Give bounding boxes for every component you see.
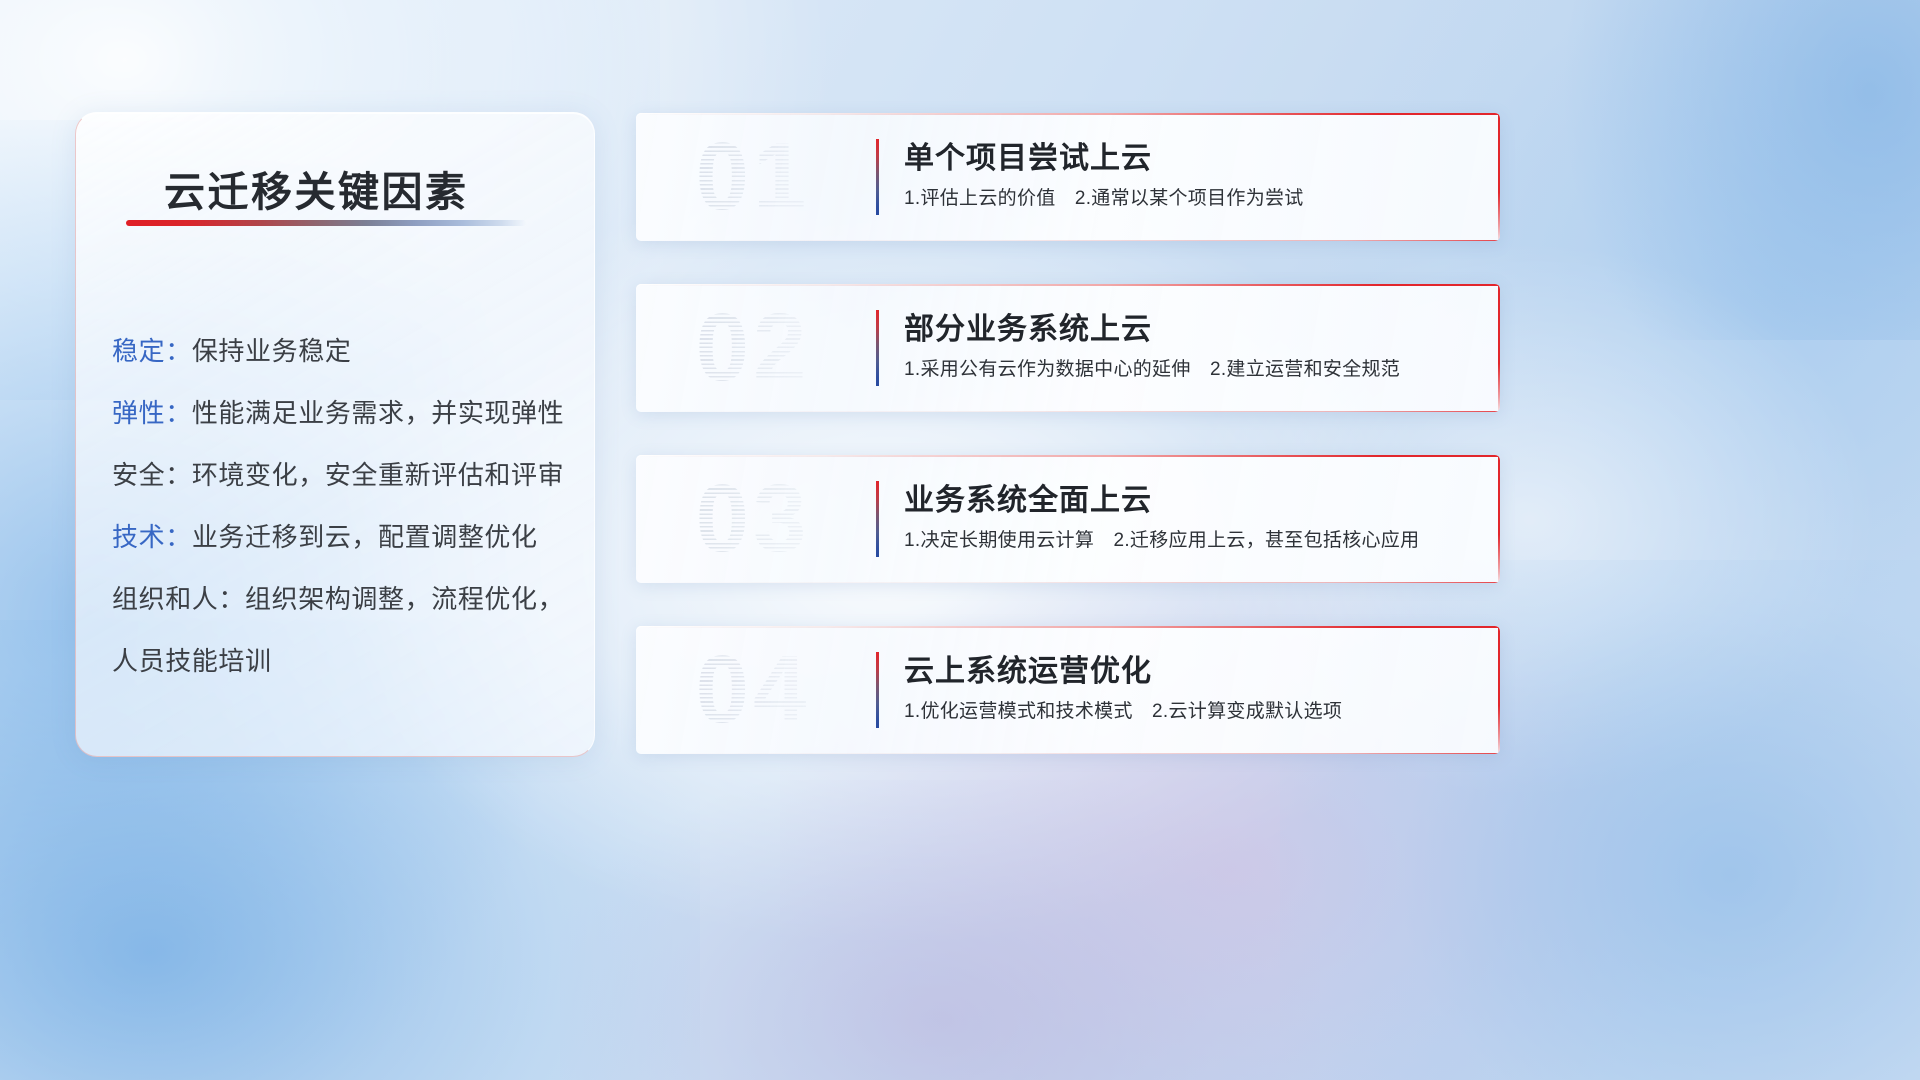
factor-value: 人员技能培训 [112, 646, 272, 676]
card-bottom-accent [636, 582, 1500, 584]
stage-card[interactable]: 01单个项目尝试上云1.评估上云的价值 2.通常以某个项目作为尝试 [636, 113, 1500, 241]
stage-number-ghost: 04 [658, 634, 848, 746]
stage-title: 云上系统运营优化 [904, 646, 1152, 690]
factor-value: 环境变化，安全重新评估和评审 [192, 460, 564, 490]
stage-divider-bar [876, 652, 879, 728]
factor-row: 稳定：保持业务稳定 [112, 331, 351, 368]
card-top-accent [636, 284, 1500, 286]
stage-title: 单个项目尝试上云 [904, 133, 1152, 177]
card-top-accent [636, 113, 1500, 115]
stage-description: 1.评估上云的价值 2.通常以某个项目作为尝试 [904, 183, 1304, 210]
stage-number-ghost: 03 [658, 463, 848, 575]
factor-value: 保持业务稳定 [192, 336, 352, 366]
background-glow-top-right [1560, 0, 1920, 340]
factor-row: 弹性：性能满足业务需求，并实现弹性 [112, 393, 564, 430]
card-right-accent [1498, 284, 1500, 412]
factor-key: 稳定： [112, 336, 192, 366]
factor-value: 业务迁移到云，配置调整优化 [192, 522, 538, 552]
card-bottom-accent [636, 753, 1500, 755]
panel-title: 云迁移关键因素 [164, 158, 469, 218]
title-underline-rule [126, 220, 526, 226]
stage-card[interactable]: 03业务系统全面上云1.决定长期使用云计算 2.迁移应用上云，甚至包括核心应用 [636, 455, 1500, 583]
factor-row: 人员技能培训 [112, 641, 272, 678]
key-factors-panel: 云迁移关键因素 稳定：保持业务稳定弹性：性能满足业务需求，并实现弹性安全：环境变… [75, 112, 595, 757]
stage-card[interactable]: 02部分业务系统上云1.采用公有云作为数据中心的延伸 2.建立运营和安全规范 [636, 284, 1500, 412]
stage-number-ghost: 02 [658, 292, 848, 404]
stage-title: 部分业务系统上云 [904, 304, 1152, 348]
stage-description: 1.优化运营模式和技术模式 2.云计算变成默认选项 [904, 696, 1342, 723]
background-glow-violet [560, 780, 1320, 1080]
stage-description: 1.采用公有云作为数据中心的延伸 2.建立运营和安全规范 [904, 354, 1400, 381]
card-right-accent [1498, 113, 1500, 241]
card-top-accent [636, 455, 1500, 457]
factor-row: 安全：环境变化，安全重新评估和评审 [112, 455, 564, 492]
factor-row: 组织和人：组织架构调整，流程优化， [112, 579, 564, 616]
card-bottom-accent [636, 240, 1500, 242]
factor-value: 组织架构调整，流程优化， [245, 584, 564, 614]
factor-key: 组织和人： [112, 584, 245, 614]
card-bottom-accent [636, 411, 1500, 413]
stage-title: 业务系统全面上云 [904, 475, 1152, 519]
factor-key: 安全： [112, 460, 192, 490]
card-right-accent [1498, 455, 1500, 583]
card-right-accent [1498, 626, 1500, 754]
factor-key: 技术： [112, 522, 192, 552]
stage-number-ghost: 01 [658, 121, 848, 233]
factor-key: 弹性： [112, 398, 192, 428]
factor-row: 技术：业务迁移到云，配置调整优化 [112, 517, 538, 554]
factor-value: 性能满足业务需求，并实现弹性 [192, 398, 564, 428]
stage-divider-bar [876, 139, 879, 215]
stage-description: 1.决定长期使用云计算 2.迁移应用上云，甚至包括核心应用 [904, 525, 1419, 552]
stage-divider-bar [876, 310, 879, 386]
stage-divider-bar [876, 481, 879, 557]
stage-card[interactable]: 04云上系统运营优化1.优化运营模式和技术模式 2.云计算变成默认选项 [636, 626, 1500, 754]
card-top-accent [636, 626, 1500, 628]
